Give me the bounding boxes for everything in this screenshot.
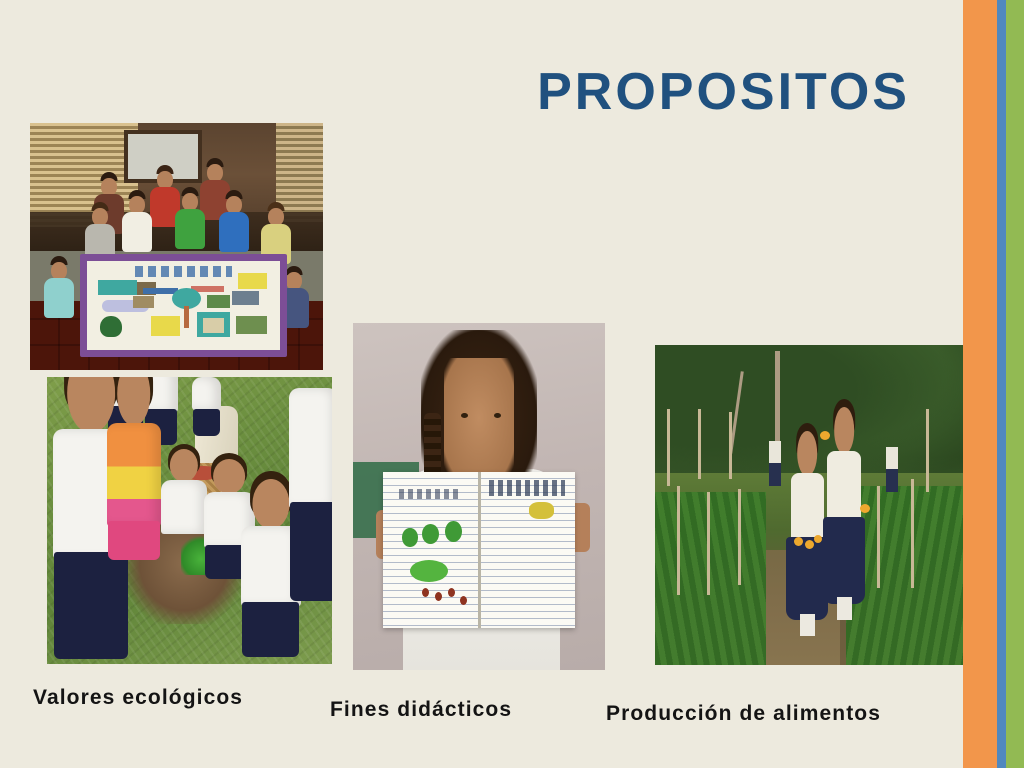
notebook-drawing-fruit (422, 588, 429, 597)
poster-block (100, 316, 121, 337)
garden-stake (677, 486, 680, 595)
poster-block (203, 318, 224, 333)
poster-block (151, 316, 180, 336)
decor-bar-orange (963, 0, 997, 768)
garden-stake (877, 486, 880, 588)
background-person (886, 447, 898, 492)
photo-girl-notebook (353, 323, 605, 670)
decor-bar-blue (997, 0, 1006, 768)
photo-mural-group (30, 123, 323, 370)
harvested-fruit (805, 540, 814, 549)
notebook-spine (478, 472, 481, 628)
photo-tree-planting (47, 377, 332, 664)
notebook-handwriting (399, 489, 460, 498)
poster-block (232, 291, 259, 305)
harvested-fruit (860, 504, 870, 513)
harvested-fruit (794, 537, 803, 546)
poster-title-scribble (135, 266, 232, 277)
decor-bar-green (1006, 0, 1024, 768)
harvested-fruit (820, 431, 830, 440)
girl-face (444, 358, 515, 483)
garden-stake (738, 489, 741, 585)
photo-cuaderno-scene (353, 323, 605, 670)
photo-huerta-scene (655, 345, 963, 665)
child-figure (39, 256, 80, 355)
girl-with-harvest (791, 473, 825, 633)
girl-with-harvest (827, 451, 861, 617)
notebook-drawing-yellow (529, 502, 554, 519)
presentation-slide: PROPOSITOS (0, 0, 1024, 768)
photo-siembra-scene (47, 377, 332, 664)
background-person (769, 441, 781, 486)
caption-produccion-de-alimentos: Producción de alimentos (606, 702, 881, 726)
notebook-handwriting (489, 480, 566, 496)
fence-post (667, 409, 670, 486)
student-figure (107, 423, 161, 601)
photo-mural-scene (30, 123, 323, 370)
notebook-drawing-tree (445, 521, 462, 543)
garden-stake (911, 479, 914, 588)
caption-valores-ecologicos: Valores ecológicos (33, 686, 243, 710)
garden-stake (707, 492, 710, 594)
student-figure (289, 388, 332, 595)
fence-post (926, 409, 929, 492)
poster-block (207, 295, 230, 308)
notebook-drawing-tree (422, 524, 439, 544)
poster-block (236, 316, 267, 334)
fence-post (729, 412, 732, 479)
poster-block (133, 296, 154, 308)
ecology-mural-poster (80, 254, 287, 357)
poster-block (238, 273, 267, 289)
poster-block (98, 280, 137, 294)
photo-school-garden (655, 345, 963, 665)
open-notebook (383, 472, 575, 628)
notebook-drawing-bush (410, 560, 448, 582)
fence-post (698, 409, 701, 479)
student-figure (161, 480, 207, 572)
notebook-drawing-fruit (460, 596, 467, 605)
tomato-crop-left (655, 492, 766, 665)
caption-fines-didacticos: Fines didácticos (330, 698, 512, 722)
notebook-drawing-tree (402, 528, 417, 547)
slide-title: PROPOSITOS (330, 64, 910, 121)
student-figure (192, 377, 221, 434)
